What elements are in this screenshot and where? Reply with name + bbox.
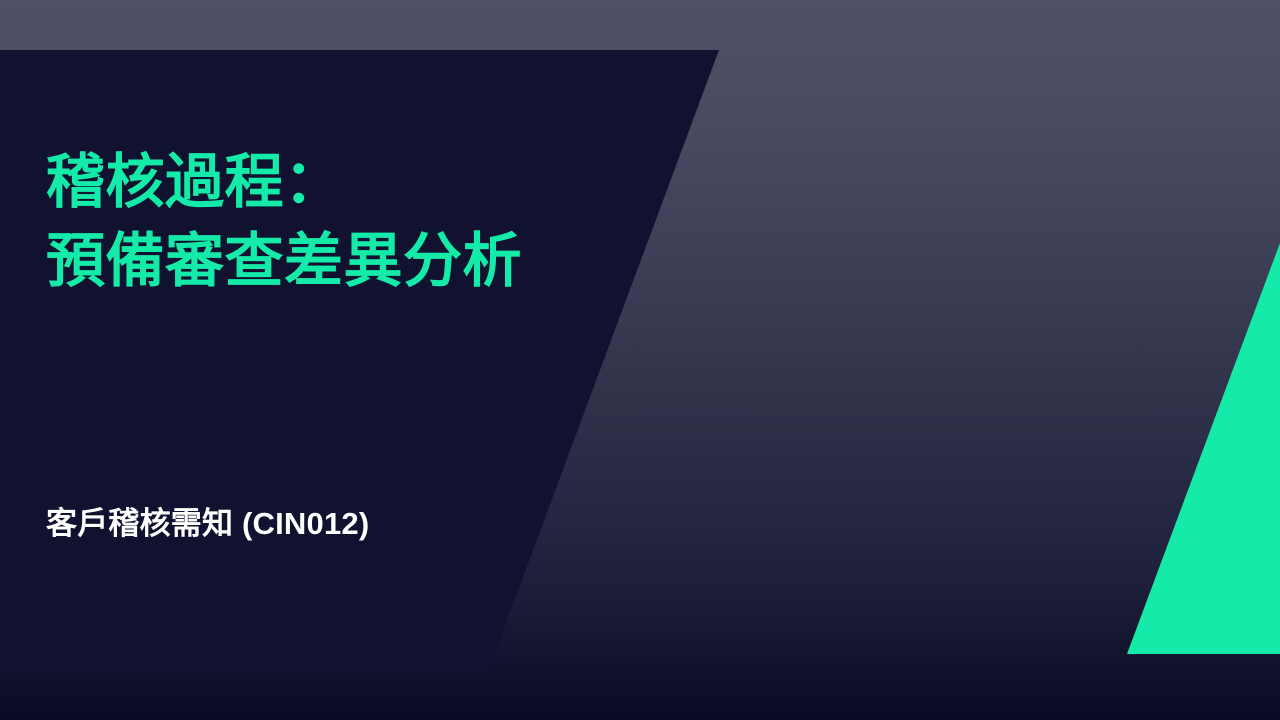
title-line-1: 稽核過程： (46, 143, 666, 222)
page-title: 稽核過程： 預備審查差異分析 (46, 143, 666, 301)
title-line-2: 預備審查差異分析 (46, 222, 666, 301)
slide-content: 稽核過程： 預備審查差異分析 客戶稽核需知 (CIN012) (0, 0, 1280, 720)
page-subtitle: 客戶稽核需知 (CIN012) (46, 503, 369, 545)
title-slide: 稽核過程： 預備審查差異分析 客戶稽核需知 (CIN012) (0, 0, 1280, 720)
